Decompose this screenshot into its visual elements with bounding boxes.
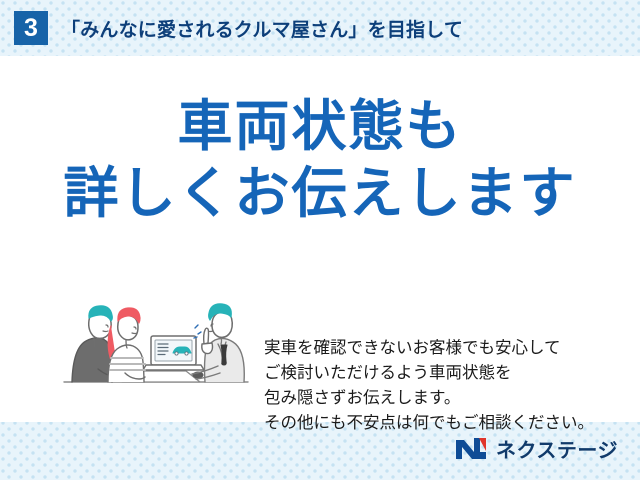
headline: 車両状態も 詳しくお伝えします	[0, 94, 640, 226]
body-copy-line-2: ご検討いただけるよう車両状態を	[264, 361, 624, 386]
header-band: 3 「みんなに愛されるクルマ屋さん」を目指して	[0, 0, 640, 56]
lower-content: 実車を確認できないお客様でも安心して ご検討いただけるよう車両状態を 包み隠さず…	[0, 274, 640, 414]
headline-line-1: 車両状態も	[0, 94, 640, 159]
footer-band: ネクステージ	[0, 422, 640, 480]
nextage-n-logo-icon	[455, 436, 489, 461]
brand-name: ネクステージ	[496, 434, 618, 463]
content-panel: 車両状態も 詳しくお伝えします	[0, 56, 640, 422]
body-copy-line-3: 包み隠さずお伝えします。	[264, 386, 624, 411]
headline-line-2: 詳しくお伝えします	[0, 161, 640, 226]
consultation-illustration	[58, 274, 254, 398]
promo-slide: 3 「みんなに愛されるクルマ屋さん」を目指して 車両状態も 詳しくお伝えします	[0, 0, 640, 480]
header-title: 「みんなに愛されるクルマ屋さん」を目指して	[61, 15, 463, 42]
body-copy-line-1: 実車を確認できないお客様でも安心して	[264, 336, 624, 361]
consultation-illustration-svg	[58, 274, 254, 398]
brand-logo: ネクステージ	[455, 434, 618, 463]
step-number-badge: 3	[14, 11, 48, 45]
body-copy: 実車を確認できないお客様でも安心して ご検討いただけるよう車両状態を 包み隠さず…	[264, 336, 624, 436]
